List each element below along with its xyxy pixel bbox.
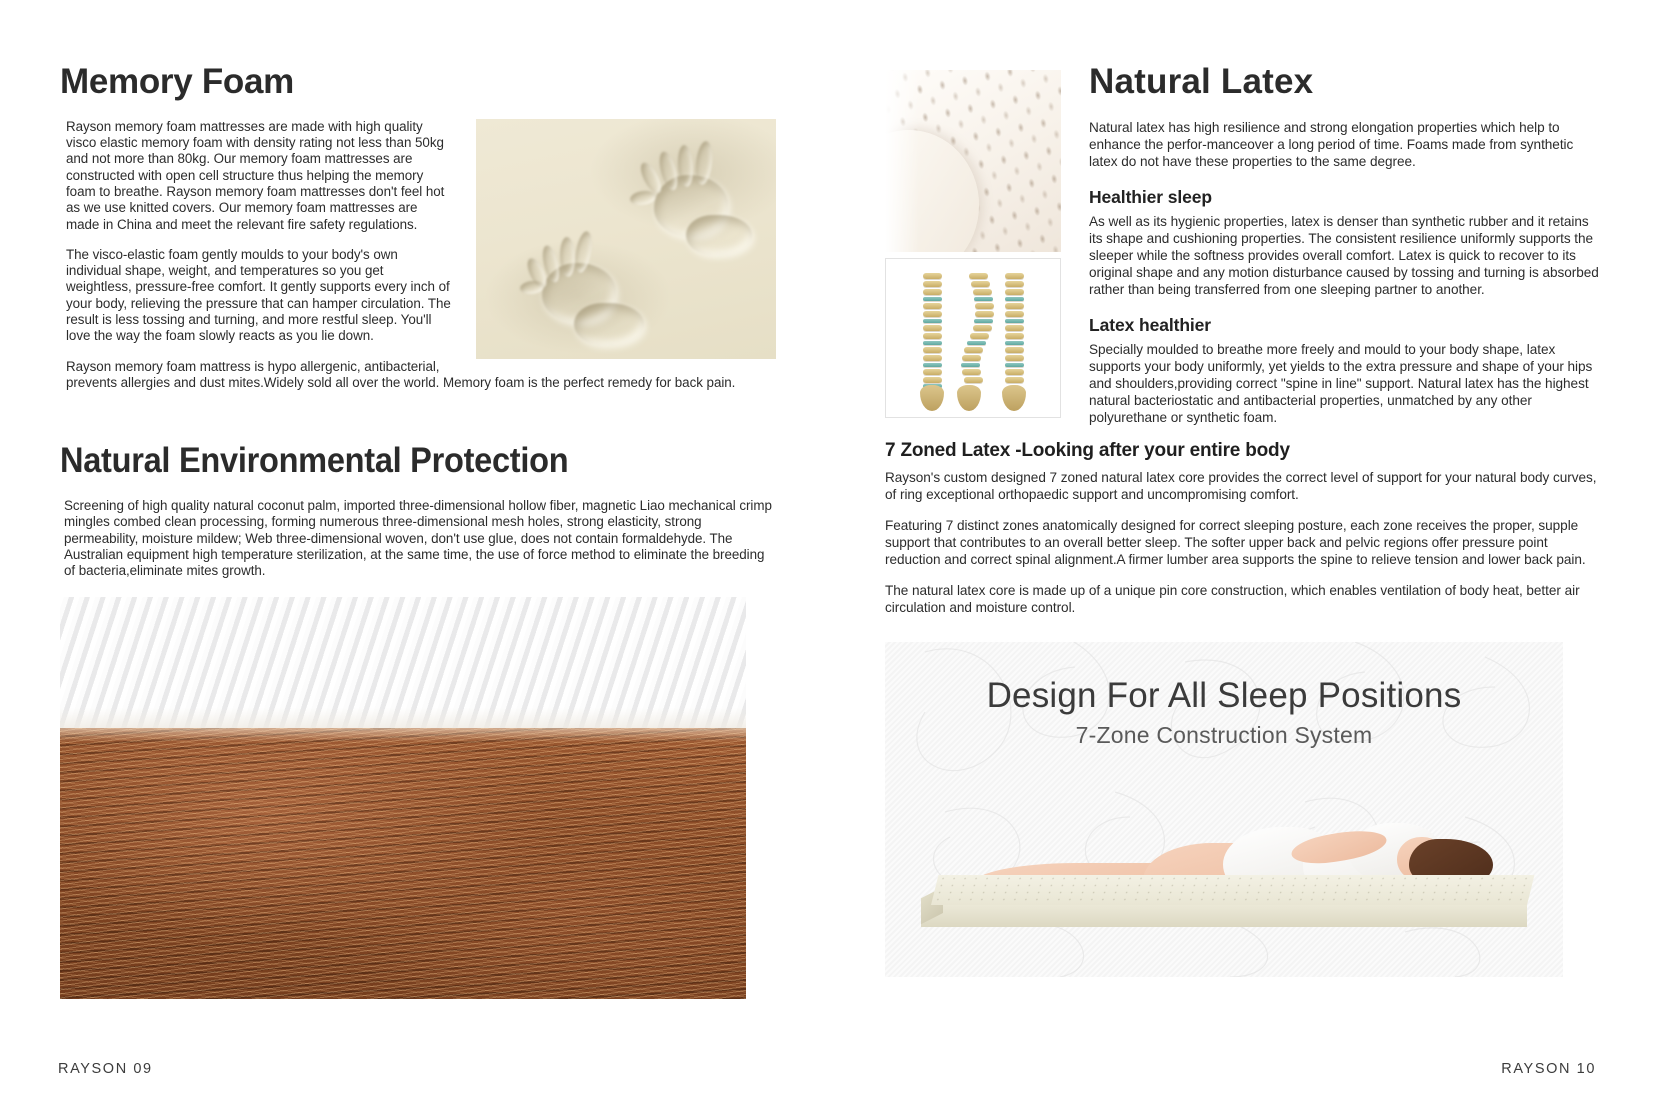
- spine-front-view: [917, 271, 947, 411]
- latex-pincore-photo: [885, 70, 1061, 252]
- memory-foam-title: Memory Foam: [60, 64, 776, 101]
- seven-zone-title: 7 Zoned Latex -Looking after your entire…: [885, 440, 1601, 462]
- latex-slab: [921, 875, 1529, 927]
- latex-pincore-thumbnail: [885, 70, 1061, 252]
- right-page-number: RAYSON 10: [1501, 1061, 1596, 1077]
- left-page-column: Memory Foam: [60, 64, 776, 999]
- hero-subtitle: 7-Zone Construction System: [885, 722, 1563, 749]
- left-page-number: RAYSON 09: [58, 1061, 153, 1077]
- environmental-protection-title: Natural Environmental Protection: [60, 443, 726, 480]
- spine-third-view: [999, 271, 1029, 411]
- handprint-foam-photo: [476, 119, 776, 359]
- seven-zone-block: 7 Zoned Latex -Looking after your entire…: [885, 440, 1601, 616]
- right-page-column: Natural Latex Natural latex has high res…: [885, 64, 1601, 977]
- coconut-coir-image: [60, 597, 746, 999]
- healthier-sleep-heading: Healthier sleep: [1089, 187, 1601, 208]
- natural-latex-intro: Natural latex has high resilience and st…: [1089, 119, 1601, 170]
- coir-fiber-layer: [60, 728, 746, 999]
- memory-foam-image: [476, 119, 776, 359]
- seven-zone-paragraph-2: Featuring 7 distinct zones anatomically …: [885, 517, 1601, 568]
- latex-text-block: Natural Latex Natural latex has high res…: [1089, 64, 1601, 426]
- latex-thumbnail-stack: [885, 70, 1061, 418]
- memory-foam-paragraph-3: Rayson memory foam mattress is hypo alle…: [60, 359, 776, 392]
- latex-healthier-heading: Latex healthier: [1089, 315, 1601, 336]
- knit-cover-layer: [60, 597, 746, 730]
- hand-imprint-lower: [520, 229, 660, 347]
- healthier-sleep-text: As well as its hygienic properties, late…: [1089, 213, 1601, 298]
- spine-illustration-thumbnail: [885, 258, 1061, 418]
- spine-views: [886, 259, 1060, 417]
- spine-side-view: [958, 271, 988, 411]
- memory-foam-block: Rayson memory foam mattresses are made w…: [60, 119, 776, 405]
- seven-zone-paragraph-3: The natural latex core is made up of a u…: [885, 582, 1601, 616]
- latex-healthier-text: Specially moulded to breathe more freely…: [1089, 341, 1601, 426]
- environmental-paragraph-1: Screening of high quality natural coconu…: [64, 498, 776, 579]
- slab-front-face: [921, 903, 1527, 927]
- sleep-positions-hero-image: Design For All Sleep Positions 7-Zone Co…: [885, 642, 1563, 977]
- slab-pincore-dots: [931, 875, 1534, 905]
- slab-top-face: [931, 875, 1534, 905]
- brochure-spread: Memory Foam: [0, 0, 1654, 1115]
- natural-latex-title: Natural Latex: [1089, 64, 1601, 101]
- seven-zone-paragraph-1: Rayson's custom designed 7 zoned natural…: [885, 469, 1601, 503]
- hero-title: Design For All Sleep Positions: [885, 676, 1563, 716]
